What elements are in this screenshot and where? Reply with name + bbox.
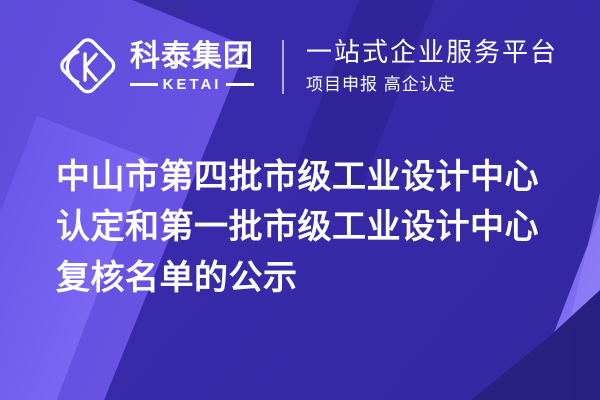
brand-name-cn: 科泰集团 [130, 41, 254, 73]
tagline-block: 一站式企业服务平台 项目申报 高企认定 [306, 38, 558, 97]
ketai-diamond-kd-logo-icon [56, 36, 118, 98]
banner-header: 科泰集团 KETAI 一站式企业服务平台 项目申报 高企认定 [56, 36, 558, 98]
dash-right [226, 83, 254, 86]
page-title: 中山市第四批市级工业设计中心认定和第一批市级工业设计中心复核名单的公示 [56, 152, 556, 303]
tagline-secondary: 项目申报 高企认定 [306, 73, 558, 97]
brand-name-en: KETAI [163, 76, 222, 93]
brand-wordmark: 科泰集团 KETAI [130, 41, 254, 93]
vertical-divider [282, 40, 284, 94]
brand-logo[interactable]: 科泰集团 KETAI [56, 36, 254, 98]
tagline-primary: 一站式企业服务平台 [306, 38, 558, 68]
promo-banner: 科泰集团 KETAI 一站式企业服务平台 项目申报 高企认定 中山市第四批市级工… [0, 0, 600, 400]
dash-left [130, 83, 158, 86]
brand-name-en-row: KETAI [130, 76, 254, 93]
